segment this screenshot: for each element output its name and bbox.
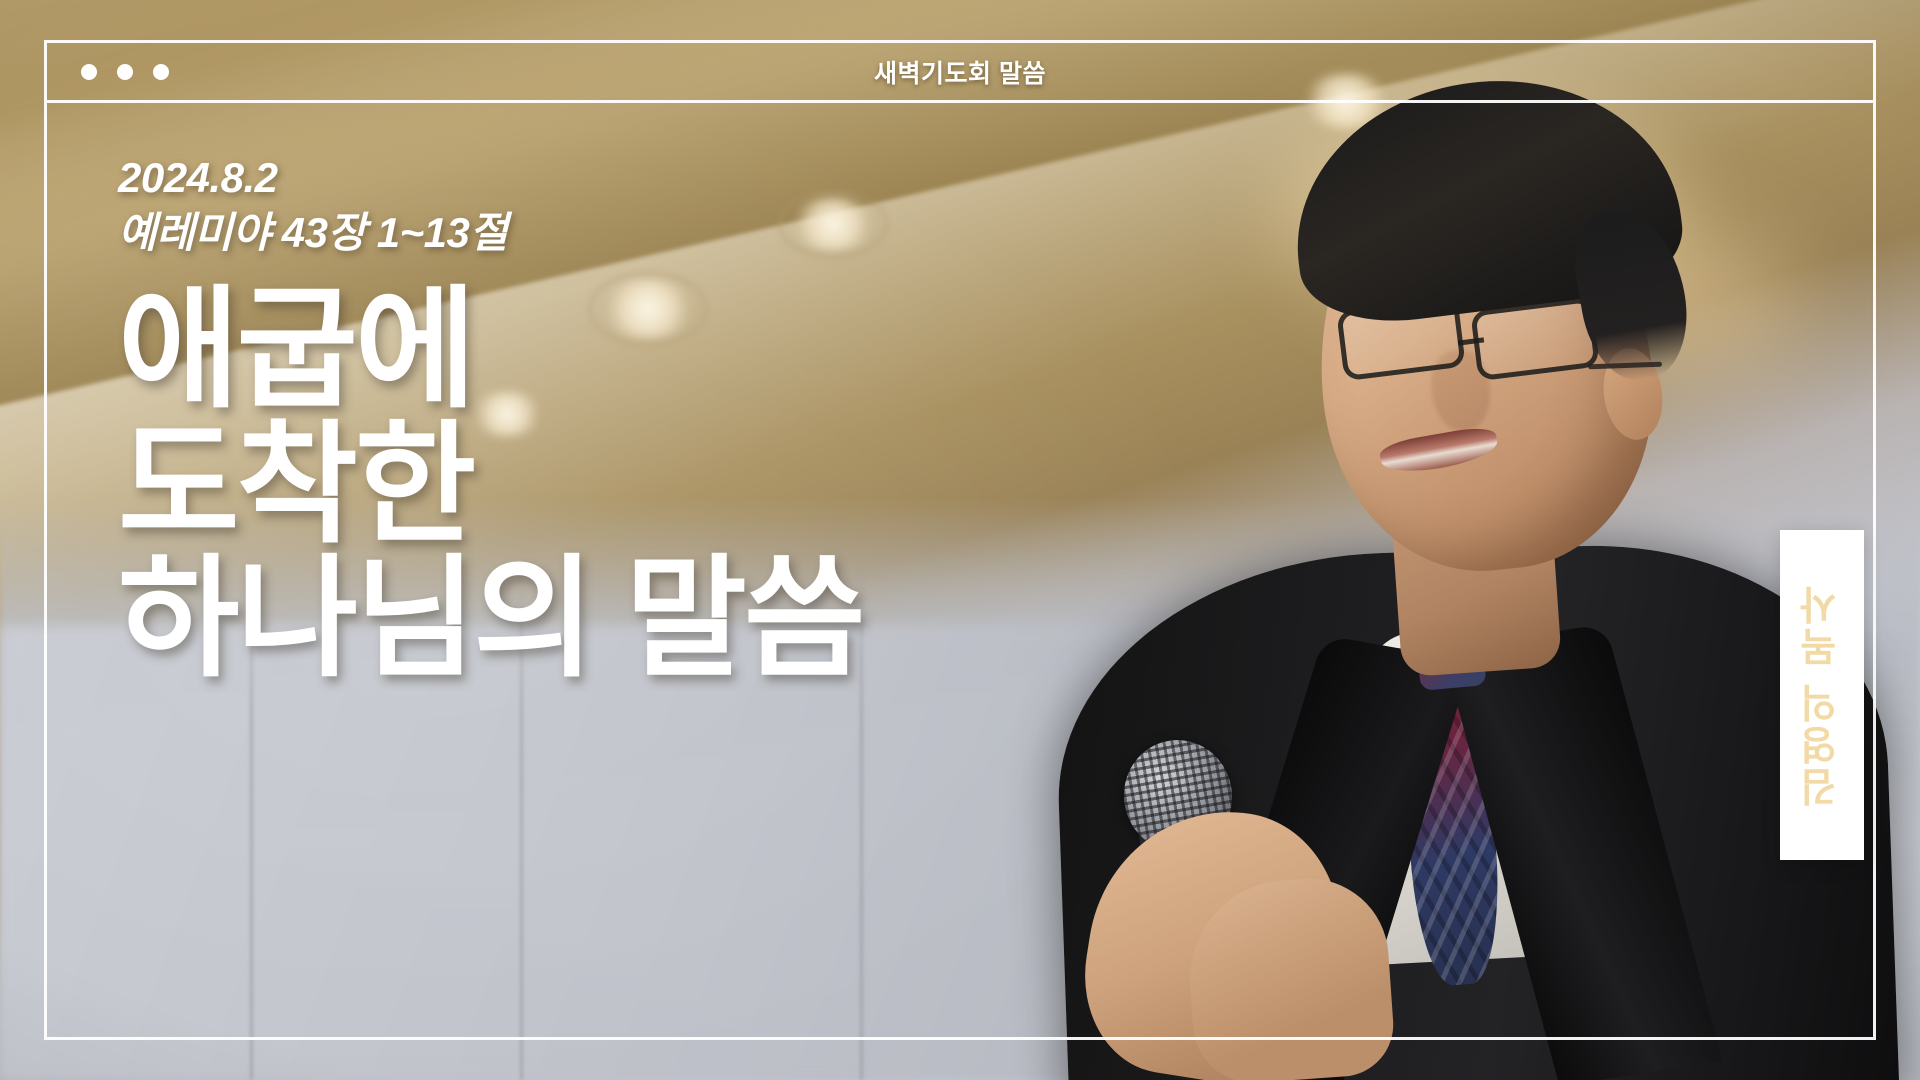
speaker-name-badge: 김영익 목사 (1780, 530, 1864, 860)
speaker-photo (940, 0, 1920, 1080)
sermon-title-card: 새벽기도회 말씀 2024.8.2 예레미야 43장 1~13절 애굽에 도착한… (0, 0, 1920, 1080)
speaker-name: 김영익 목사 (1794, 583, 1850, 807)
